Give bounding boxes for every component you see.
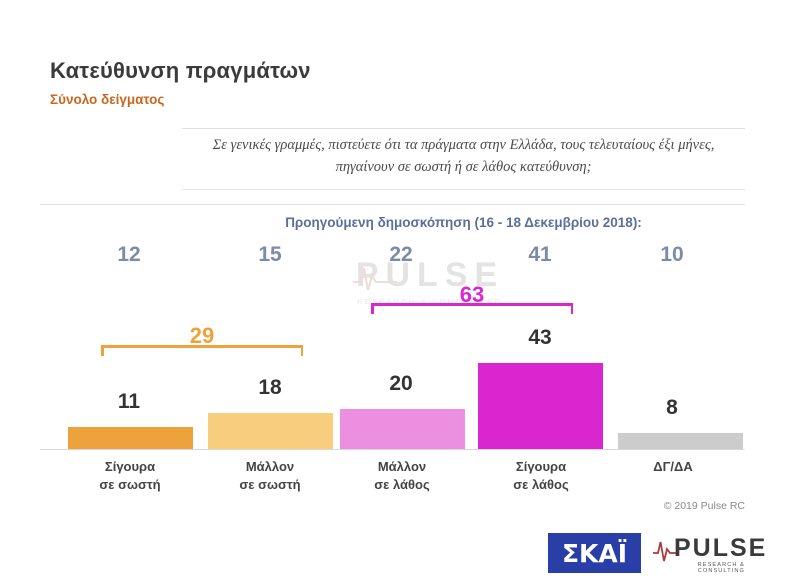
bar-value-1: 18 bbox=[200, 376, 340, 400]
category-label-0-line1: Σίγουρα bbox=[55, 458, 205, 476]
axis-baseline bbox=[40, 449, 745, 451]
category-label-2-line1: Μάλλον bbox=[327, 458, 477, 476]
prev-value-4: 10 bbox=[602, 243, 742, 267]
category-label-3-line2: σε λάθος bbox=[466, 476, 616, 494]
copyright-text: © 2019 Pulse RC bbox=[0, 500, 745, 512]
prev-value-0: 12 bbox=[59, 243, 199, 267]
divider-bottom bbox=[182, 189, 745, 190]
prev-value-2: 22 bbox=[331, 243, 471, 267]
category-label-2-line2: σε λάθος bbox=[327, 476, 477, 494]
bar-sigoura-se-lathos bbox=[478, 363, 603, 449]
divider-prev-top bbox=[40, 204, 745, 205]
category-label-3-line1: Σίγουρα bbox=[466, 458, 616, 476]
bar-sigoura-se-sosti bbox=[68, 427, 193, 449]
category-label-1-line1: Μάλλον bbox=[195, 458, 345, 476]
bar-value-4: 8 bbox=[602, 396, 742, 420]
bar-mallon-se-lathos bbox=[340, 409, 465, 449]
previous-poll-label: Προηγούμενη δημοσκόπηση (16 - 18 Δεκεμβρ… bbox=[182, 215, 745, 230]
bar-mallon-se-sosti bbox=[208, 413, 333, 449]
slide: Κατεύθυνση πραγμάτων Σύνολο δείγματος Σε… bbox=[0, 0, 795, 586]
divider-top bbox=[182, 128, 745, 129]
question-text: Σε γενικές γραμμές, πιστεύετε ότι τα πρά… bbox=[182, 135, 745, 179]
pulse-logo-subtext: RESEARCH & CONSULTING bbox=[652, 562, 745, 574]
bar-dg-da bbox=[618, 433, 743, 449]
bar-chart: 11 18 20 43 8 bbox=[40, 290, 745, 450]
prev-value-3: 41 bbox=[470, 243, 610, 267]
previous-poll-values: 12 15 22 41 10 bbox=[40, 243, 745, 271]
category-label-1-line2: σε σωστή bbox=[195, 476, 345, 494]
footer-logos: ΣΚΑΪ PULSE RESEARCH & CONSULTING bbox=[548, 533, 745, 573]
prev-value-1: 15 bbox=[200, 243, 340, 267]
bar-value-0: 11 bbox=[59, 390, 199, 414]
page-title: Κατεύθυνση πραγμάτων bbox=[50, 58, 311, 84]
pulse-logo-text: PULSE bbox=[674, 534, 767, 563]
question-block: Σε γενικές γραμμές, πιστεύετε ότι τα πρά… bbox=[182, 128, 745, 190]
page-subtitle: Σύνολο δείγματος bbox=[50, 92, 164, 107]
bar-value-2: 20 bbox=[331, 372, 471, 396]
pulse-logo: PULSE RESEARCH & CONSULTING bbox=[652, 534, 745, 572]
bar-value-3: 43 bbox=[470, 326, 610, 350]
category-label-0-line2: σε σωστή bbox=[55, 476, 205, 494]
skai-logo: ΣΚΑΪ bbox=[548, 533, 641, 573]
category-labels: Σίγουρα σε σωστή Μάλλον σε σωστή Μάλλον … bbox=[40, 458, 745, 502]
category-label-4-line1: ΔΓ/ΔΑ bbox=[598, 458, 748, 476]
